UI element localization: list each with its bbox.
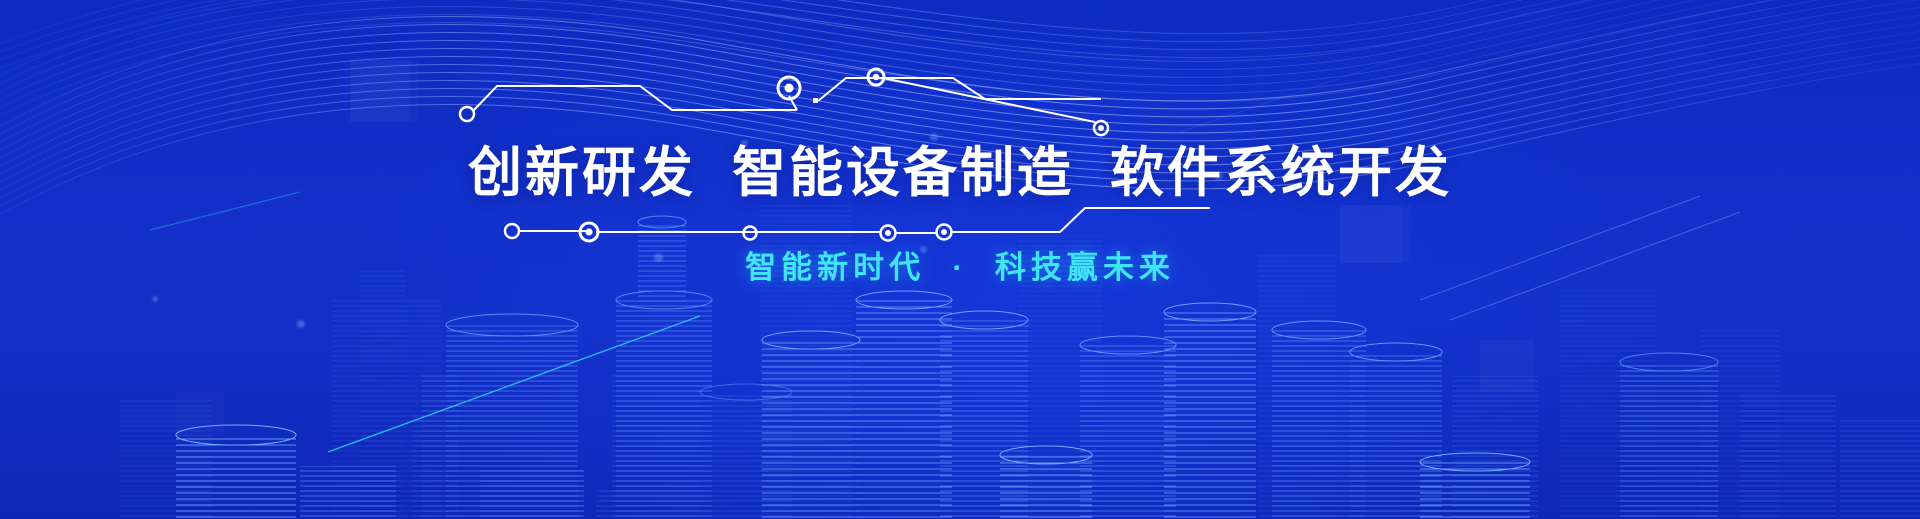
banner-text: 创新研发 智能设备制造 软件系统开发 智能新时代 · 科技赢未来	[0, 0, 1920, 519]
tech-banner: 创新研发 智能设备制造 软件系统开发 智能新时代 · 科技赢未来	[0, 0, 1920, 519]
banner-title: 创新研发 智能设备制造 软件系统开发	[468, 146, 1452, 200]
banner-subtitle: 智能新时代 · 科技赢未来	[745, 252, 1175, 283]
